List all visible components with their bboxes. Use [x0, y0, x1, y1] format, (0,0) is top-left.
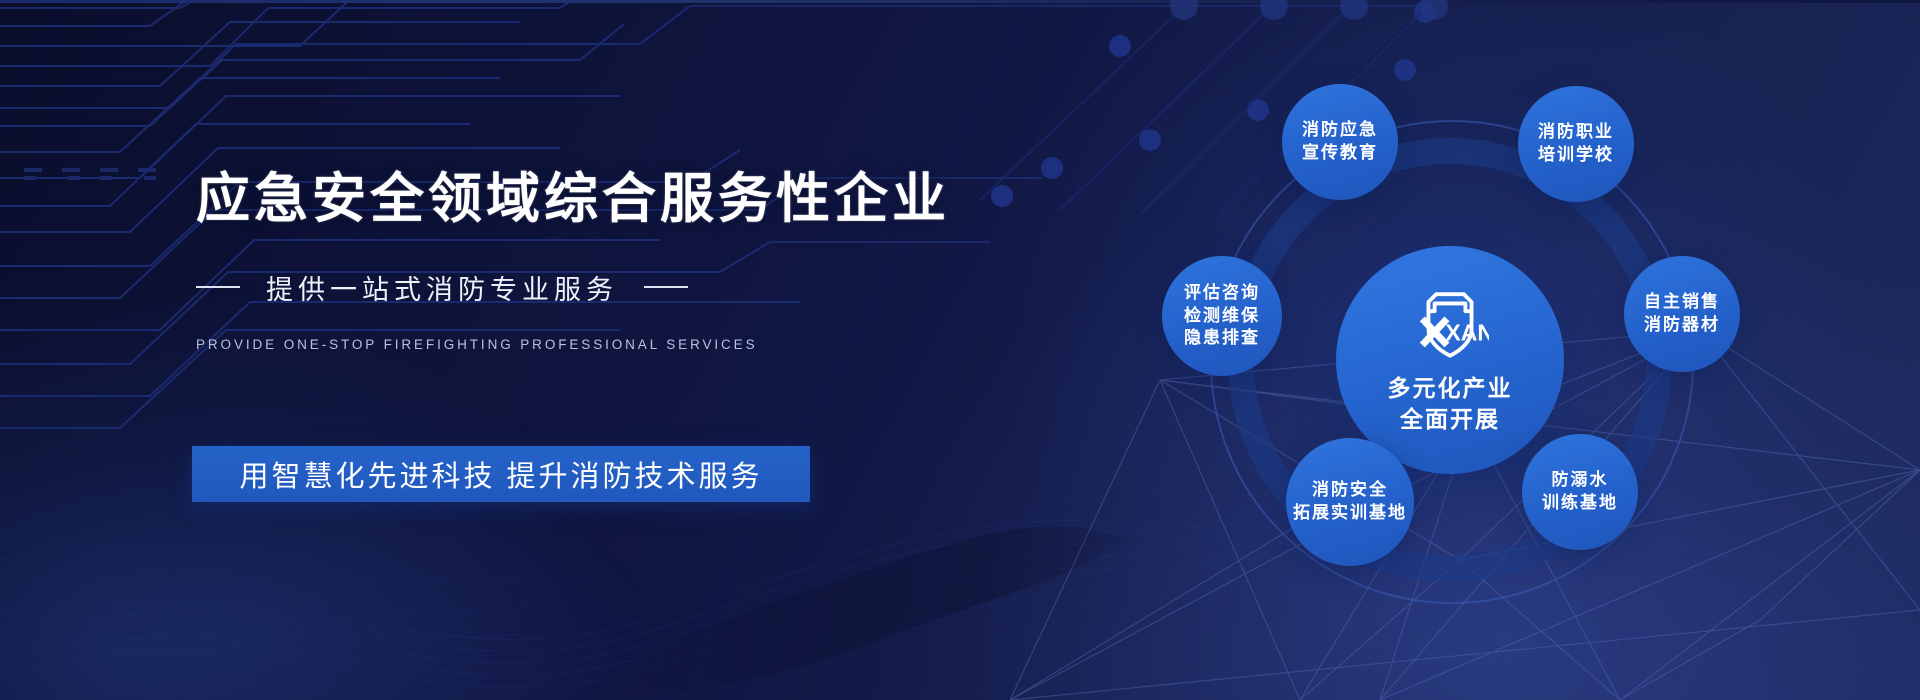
- rule-right: [644, 286, 688, 288]
- bubble-line-2: 培训学校: [1538, 144, 1614, 167]
- bubble-line-1: 消防安全: [1312, 479, 1388, 502]
- bubble-line-2: 宣传教育: [1302, 142, 1378, 165]
- bubble-line-2: 检测维保: [1184, 305, 1260, 328]
- top-divider: [0, 0, 1920, 3]
- shield-icon: XAN: [1411, 285, 1489, 365]
- hero-banner: 应急安全领域综合服务性企业 提供一站式消防专业服务 PROVIDE ONE-ST…: [0, 0, 1920, 700]
- rule-left: [196, 286, 240, 288]
- bubble-line-1: 评估咨询: [1184, 282, 1260, 305]
- bubble-water-rescue-base[interactable]: 防溺水 训练基地: [1522, 434, 1638, 550]
- bubble-line-2: 训练基地: [1542, 492, 1618, 515]
- bubble-equipment-sales[interactable]: 自主销售 消防器材: [1624, 256, 1740, 372]
- headline-block: 应急安全领域综合服务性企业 提供一站式消防专业服务 PROVIDE ONE-ST…: [196, 168, 916, 352]
- page-title: 应急安全领域综合服务性企业: [196, 168, 916, 232]
- bubble-line-1: 自主销售: [1644, 291, 1720, 314]
- cta-label: 用智慧化先进科技 提升消防技术服务: [239, 453, 762, 495]
- bubble-line-2: 消防器材: [1644, 314, 1720, 337]
- bubble-fire-vocational-school[interactable]: 消防职业 培训学校: [1518, 86, 1634, 202]
- bubble-line-1: 防溺水: [1552, 469, 1609, 492]
- logo-wordmark: XAN: [1445, 320, 1489, 346]
- bubble-line-3: 隐患排查: [1184, 327, 1260, 350]
- center-bubble[interactable]: XAN 多元化产业 全面开展: [1336, 246, 1564, 474]
- cta-banner-bar[interactable]: 用智慧化先进科技 提升消防技术服务: [192, 446, 810, 502]
- bubble-fire-emergency-education[interactable]: 消防应急 宣传教育: [1282, 84, 1398, 200]
- bubble-line-2: 拓展实训基地: [1293, 502, 1407, 525]
- subtitle-english: PROVIDE ONE-STOP FIREFIGHTING PROFESSION…: [196, 337, 916, 352]
- subtitle-chinese: 提供一站式消防专业服务: [266, 268, 618, 307]
- subtitle-row: 提供一站式消防专业服务: [196, 268, 916, 307]
- bubble-assessment-consulting[interactable]: 评估咨询 检测维保 隐患排查: [1162, 256, 1282, 376]
- center-line-1: 多元化产业: [1388, 373, 1513, 404]
- center-line-2: 全面开展: [1400, 404, 1500, 435]
- bubble-line-1: 消防应急: [1302, 119, 1378, 142]
- bubble-line-1: 消防职业: [1538, 121, 1614, 144]
- bubble-safety-training-base[interactable]: 消防安全 拓展实训基地: [1286, 438, 1414, 566]
- services-circle-diagram: XAN 多元化产业 全面开展 消防应急 宣传教育 消防职业 培训学校 自主销售 …: [1100, 60, 1840, 660]
